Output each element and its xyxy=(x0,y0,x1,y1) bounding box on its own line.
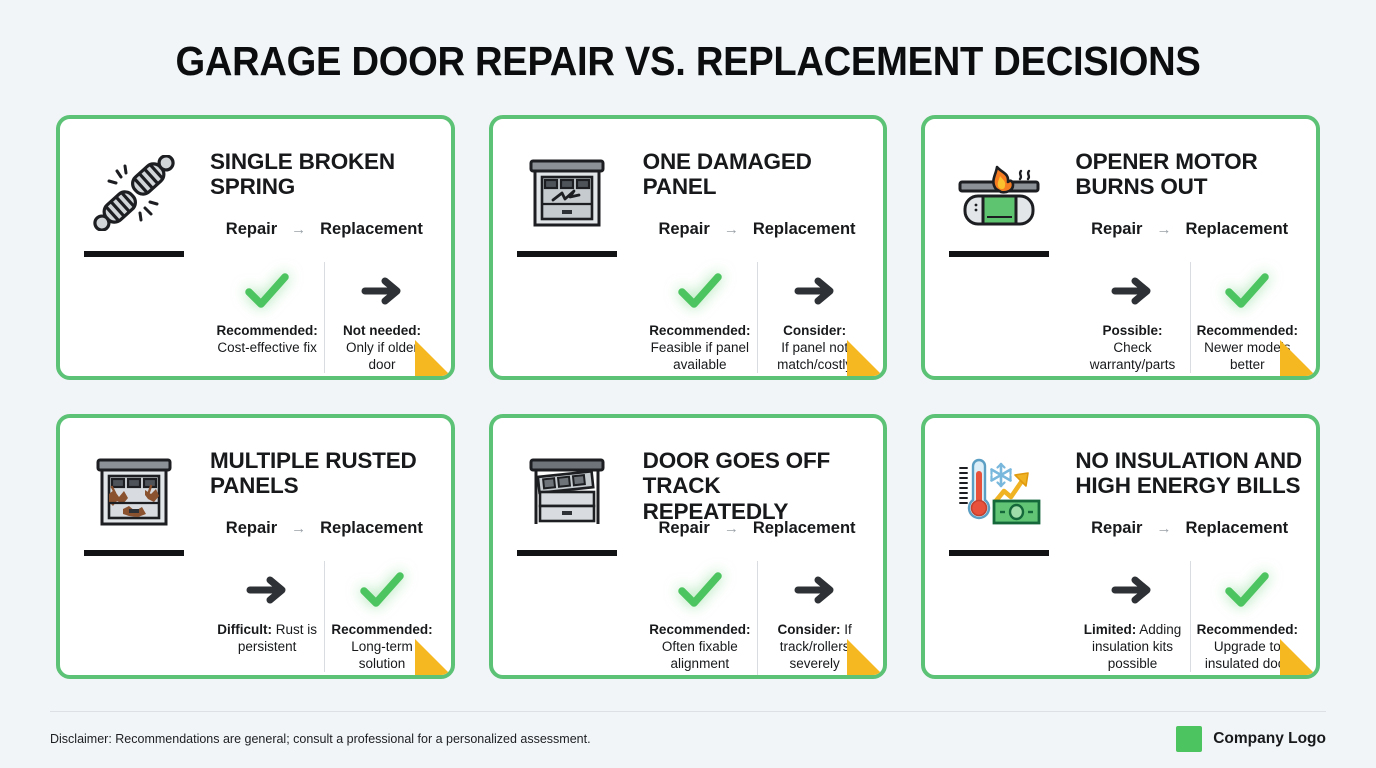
card-title: OPENER MOTOR BURNS OUT xyxy=(1075,149,1304,201)
check-icon xyxy=(1224,262,1270,320)
repair-outcome: Recommended: Cost-effective fix xyxy=(217,322,318,356)
card-title: DOOR GOES OFF TRACK REPEATEDLY xyxy=(643,448,872,500)
card-icon-column xyxy=(505,428,629,665)
repair-outcome-label: Recommended: xyxy=(649,323,750,338)
corner-flag xyxy=(1280,639,1316,675)
arrow-right-icon xyxy=(1109,561,1155,619)
compare-header: Repair → Replacement xyxy=(643,512,872,545)
decision-card[interactable]: OPENER MOTOR BURNS OUT Repair → Replacem… xyxy=(921,115,1320,380)
repair-header-label: Repair xyxy=(658,220,709,239)
repair-outcome-label: Possible: xyxy=(1102,323,1162,338)
outcome-columns: Possible: Check warranty/parts Recommend… xyxy=(1075,262,1304,373)
replacement-outcome-label: Consider: xyxy=(783,323,846,338)
decision-card[interactable]: DOOR GOES OFF TRACK REPEATEDLY Repair → … xyxy=(489,414,888,679)
logo-swatch-icon xyxy=(1176,726,1202,752)
replacement-outcome-text: If panel not match/costly xyxy=(777,340,852,372)
footer: Disclaimer: Recommendations are general;… xyxy=(50,711,1326,752)
card-title: MULTIPLE RUSTED PANELS xyxy=(210,448,439,500)
replacement-outcome-text: Long-term solution xyxy=(351,639,413,671)
replacement-header-label: Replacement xyxy=(753,220,856,239)
outcome-columns: Recommended: Often fixable alignment xyxy=(643,561,872,679)
repair-header-label: Repair xyxy=(1091,220,1142,239)
repair-outcome: Difficult: Rust is persistent xyxy=(216,621,318,655)
compare-header: Repair → Replacement xyxy=(1075,512,1304,545)
icon-underline xyxy=(517,251,617,257)
card-icon-column xyxy=(505,129,629,366)
replacement-outcome-text: Only if older door xyxy=(346,340,418,372)
check-icon xyxy=(244,262,290,320)
repair-outcome: Possible: Check warranty/parts xyxy=(1081,322,1183,373)
replacement-header-label: Replacement xyxy=(1185,519,1288,538)
check-icon xyxy=(359,561,405,619)
replacement-header-label: Replacement xyxy=(753,519,856,538)
repair-column: Recommended: Feasible if panel available xyxy=(643,262,757,373)
repair-header-label: Repair xyxy=(226,519,277,538)
card-content-column: DOOR GOES OFF TRACK REPEATEDLY Repair → … xyxy=(629,428,872,665)
icon-underline xyxy=(517,550,617,556)
arrow-right-icon: → xyxy=(724,521,739,536)
off-track-door-icon xyxy=(521,450,613,534)
repair-outcome: Recommended: Often fixable alignment xyxy=(649,621,751,672)
card-icon-column xyxy=(937,428,1061,665)
replacement-header-label: Replacement xyxy=(320,220,423,239)
card-title: NO INSULATION AND HIGH ENERGY BILLS xyxy=(1075,448,1304,500)
repair-outcome-label: Recommended: xyxy=(217,323,318,338)
infographic-page: GARAGE DOOR REPAIR VS. REPLACEMENT DECIS… xyxy=(0,0,1376,768)
repair-column: Difficult: Rust is persistent xyxy=(210,561,324,672)
replacement-outcome-label: Recommended: xyxy=(331,622,432,637)
decision-card[interactable]: ONE DAMAGED PANEL Repair → Replacement xyxy=(489,115,888,380)
outcome-columns: Limited: Adding insulation kits possible… xyxy=(1075,561,1304,672)
arrow-right-icon: → xyxy=(1156,222,1171,237)
repair-outcome: Recommended: Feasible if panel available xyxy=(649,322,751,373)
replacement-outcome-label: Not needed: xyxy=(343,323,421,338)
repair-outcome-text: Often fixable alignment xyxy=(662,639,738,671)
icon-underline xyxy=(949,550,1049,556)
compare-header: Repair → Replacement xyxy=(210,512,439,545)
repair-outcome-text: Check warranty/parts xyxy=(1090,340,1176,372)
arrow-right-icon xyxy=(359,262,405,320)
repair-header-label: Repair xyxy=(1091,519,1142,538)
rusted-door-icon xyxy=(88,450,180,534)
replacement-header-label: Replacement xyxy=(1185,220,1288,239)
decision-card[interactable]: SINGLE BROKEN SPRING Repair → Replacemen… xyxy=(56,115,455,380)
card-title: ONE DAMAGED PANEL xyxy=(643,149,872,201)
repair-column: Limited: Adding insulation kits possible xyxy=(1075,561,1189,672)
outcome-columns: Difficult: Rust is persistent Recommende… xyxy=(210,561,439,672)
check-icon xyxy=(1224,561,1270,619)
card-content-column: SINGLE BROKEN SPRING Repair → Replacemen… xyxy=(196,129,439,366)
arrow-right-icon xyxy=(792,561,838,619)
arrow-right-icon: → xyxy=(1156,521,1171,536)
replacement-outcome-text: Newer models better xyxy=(1204,340,1290,372)
arrow-right-icon xyxy=(244,561,290,619)
outcome-columns: Recommended: Feasible if panel available xyxy=(643,262,872,373)
repair-outcome-label: Limited: xyxy=(1084,622,1137,637)
repair-outcome-text: Feasible if panel available xyxy=(651,340,749,372)
cracked-panel-door-icon xyxy=(521,151,613,235)
repair-column: Possible: Check warranty/parts xyxy=(1075,262,1189,373)
icon-underline xyxy=(84,550,184,556)
replacement-outcome-label: Recommended: xyxy=(1197,622,1298,637)
compare-header: Repair → Replacement xyxy=(643,213,872,246)
corner-flag xyxy=(415,639,451,675)
card-icon-column xyxy=(72,428,196,665)
card-content-column: OPENER MOTOR BURNS OUT Repair → Replacem… xyxy=(1061,129,1304,366)
compare-header: Repair → Replacement xyxy=(1075,213,1304,246)
corner-flag xyxy=(415,340,451,376)
arrow-right-icon: → xyxy=(291,521,306,536)
check-icon xyxy=(677,262,723,320)
decision-card-grid: SINGLE BROKEN SPRING Repair → Replacemen… xyxy=(56,115,1320,679)
replacement-outcome-label: Consider: xyxy=(778,622,841,637)
icon-underline xyxy=(949,251,1049,257)
replacement-header-label: Replacement xyxy=(320,519,423,538)
decision-card[interactable]: MULTIPLE RUSTED PANELS Repair → Replacem… xyxy=(56,414,455,679)
card-icon-column xyxy=(72,129,196,366)
broken-spring-icon xyxy=(88,151,180,235)
repair-column: Recommended: Cost-effective fix xyxy=(210,262,324,373)
corner-flag xyxy=(847,639,883,675)
repair-outcome-text: Cost-effective fix xyxy=(217,340,317,355)
arrow-right-icon xyxy=(792,262,838,320)
repair-column: Recommended: Often fixable alignment xyxy=(643,561,757,679)
corner-flag xyxy=(847,340,883,376)
card-icon-column xyxy=(937,129,1061,366)
company-logo: Company Logo xyxy=(1176,726,1326,752)
replacement-outcome-text: Upgrade to insulated door xyxy=(1205,639,1290,671)
thermometer-energy-icon xyxy=(953,450,1045,534)
arrow-right-icon xyxy=(1109,262,1155,320)
replacement-outcome-label: Recommended: xyxy=(1197,323,1298,338)
card-content-column: NO INSULATION AND HIGH ENERGY BILLS Repa… xyxy=(1061,428,1304,665)
disclaimer-text: Disclaimer: Recommendations are general;… xyxy=(50,732,591,746)
card-content-column: MULTIPLE RUSTED PANELS Repair → Replacem… xyxy=(196,428,439,665)
outcome-columns: Recommended: Cost-effective fix No xyxy=(210,262,439,373)
company-logo-label: Company Logo xyxy=(1213,730,1326,748)
card-title: SINGLE BROKEN SPRING xyxy=(210,149,439,201)
arrow-right-icon: → xyxy=(724,222,739,237)
page-title: GARAGE DOOR REPAIR VS. REPLACEMENT DECIS… xyxy=(48,38,1328,85)
check-icon xyxy=(677,561,723,619)
repair-header-label: Repair xyxy=(226,220,277,239)
compare-header: Repair → Replacement xyxy=(210,213,439,246)
burning-motor-icon xyxy=(953,151,1045,235)
repair-outcome-label: Recommended: xyxy=(649,622,750,637)
corner-flag xyxy=(1280,340,1316,376)
arrow-right-icon: → xyxy=(291,222,306,237)
repair-outcome-label: Difficult: xyxy=(217,622,272,637)
repair-outcome: Limited: Adding insulation kits possible xyxy=(1081,621,1183,672)
card-content-column: ONE DAMAGED PANEL Repair → Replacement xyxy=(629,129,872,366)
icon-underline xyxy=(84,251,184,257)
repair-header-label: Repair xyxy=(658,519,709,538)
decision-card[interactable]: NO INSULATION AND HIGH ENERGY BILLS Repa… xyxy=(921,414,1320,679)
